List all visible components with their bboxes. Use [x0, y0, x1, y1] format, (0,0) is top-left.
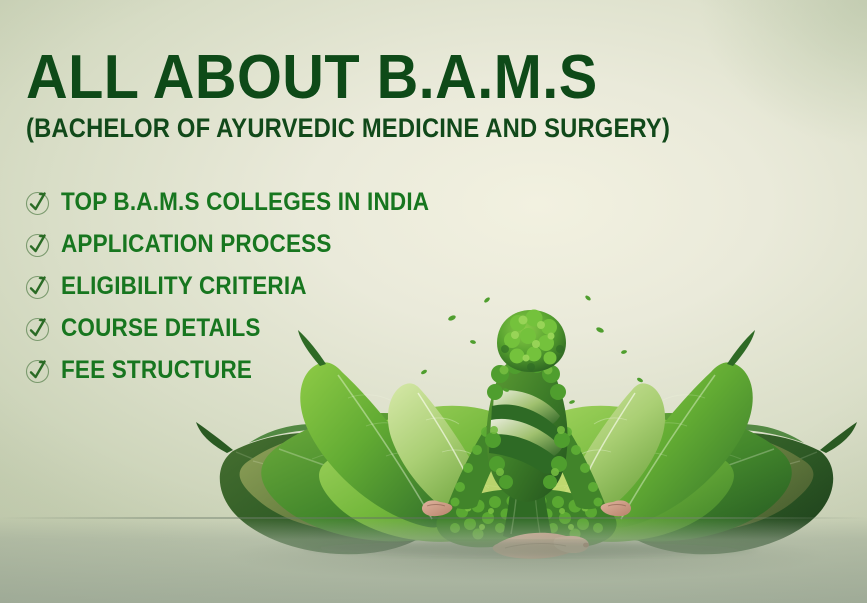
page-subtitle: (BACHELOR OF AYURVEDIC MEDICINE AND SURG… — [26, 115, 572, 142]
leaf-check-circle-icon — [22, 271, 52, 301]
leaf-check-circle-icon — [22, 313, 52, 343]
list-item-label: TOP B.A.M.S COLLEGES IN INDIA — [61, 188, 429, 217]
list-item-label: FEE STRUCTURE — [61, 356, 252, 385]
page-title: ALL ABOUT B.A.M.S — [26, 48, 603, 109]
list-item-label: APPLICATION PROCESS — [61, 230, 332, 259]
headline-block: ALL ABOUT B.A.M.S (BACHELOR OF AYURVEDIC… — [26, 48, 646, 142]
list-item-label: ELIGIBILITY CRITERIA — [61, 272, 307, 301]
feature-list: TOP B.A.M.S COLLEGES IN INDIA APPLICATIO… — [22, 181, 470, 391]
leaf-check-circle-icon — [22, 187, 52, 217]
list-item[interactable]: COURSE DETAILS — [22, 307, 470, 349]
list-item-label: COURSE DETAILS — [61, 314, 261, 343]
poster-canvas: ALL ABOUT B.A.M.S (BACHELOR OF AYURVEDIC… — [0, 0, 867, 603]
list-item[interactable]: APPLICATION PROCESS — [22, 223, 470, 265]
list-item[interactable]: FEE STRUCTURE — [22, 349, 470, 391]
list-item[interactable]: ELIGIBILITY CRITERIA — [22, 265, 470, 307]
leaf-check-circle-icon — [22, 229, 52, 259]
list-item[interactable]: TOP B.A.M.S COLLEGES IN INDIA — [22, 181, 470, 223]
leaf-check-circle-icon — [22, 355, 52, 385]
